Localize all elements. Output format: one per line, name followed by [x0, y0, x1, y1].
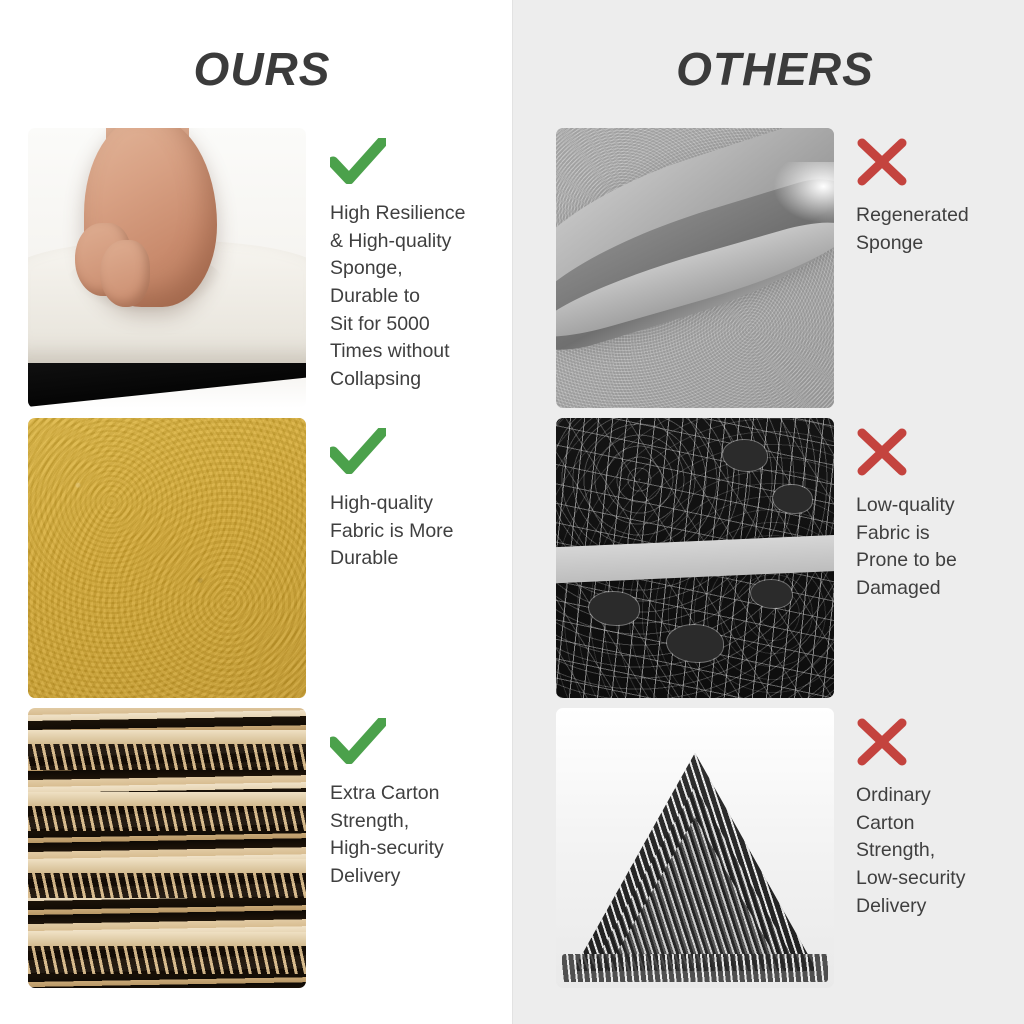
check-mark-icon	[330, 428, 502, 484]
comparison-infographic: OURS High	[0, 0, 1024, 1024]
ours-panel: OURS High	[0, 0, 512, 1024]
fist-pressing-white-foam-mattress-image	[28, 128, 306, 408]
fabric-flake	[773, 485, 812, 513]
check-mark-icon	[330, 718, 502, 774]
cardboard-liner	[28, 932, 306, 946]
cardboard-liner	[28, 859, 306, 873]
ours-row-fabric-info: High-quality Fabric is More Durable	[306, 418, 502, 573]
cross-mark-icon	[856, 428, 1024, 484]
ours-row-sponge-caption: High Resilience & High-quality Sponge, D…	[330, 200, 502, 394]
ours-rows: High Resilience & High-quality Sponge, D…	[0, 128, 512, 998]
others-row-fabric-info: Low-quality Fabric is Prone to be Damage…	[834, 418, 1024, 603]
others-row-carton: Ordinary Carton Strength, Low-security D…	[512, 708, 1024, 998]
cardboard-flute	[28, 744, 306, 769]
others-row-carton-caption: Ordinary Carton Strength, Low-security D…	[856, 782, 1024, 920]
cross-mark-icon	[856, 138, 1024, 194]
cardboard-flute	[28, 806, 306, 831]
fabric-flake	[589, 592, 639, 626]
kraft-corrugated-cardboard-layers-image	[28, 708, 306, 988]
others-row-sponge: Regenerated Sponge	[512, 128, 1024, 418]
gray-folded-thin-carton-image	[556, 708, 834, 988]
others-title: OTHERS	[512, 42, 1024, 96]
gray-folded-regenerated-sponge-sheet-image	[556, 128, 834, 408]
others-rows: Regenerated Sponge	[512, 128, 1024, 998]
yellow-leather-fabric-swatch-image	[28, 418, 306, 698]
cardboard-flute	[28, 873, 306, 898]
fabric-flake	[751, 580, 793, 608]
cardboard-flute	[28, 946, 306, 974]
others-row-sponge-caption: Regenerated Sponge	[856, 202, 1024, 257]
ours-row-fabric-caption: High-quality Fabric is More Durable	[330, 490, 502, 573]
ours-row-sponge-info: High Resilience & High-quality Sponge, D…	[306, 128, 502, 394]
ours-row-fabric: High-quality Fabric is More Durable	[0, 418, 512, 708]
knuckle-shape	[100, 240, 150, 307]
fabric-flake	[667, 625, 723, 661]
ours-row-sponge: High Resilience & High-quality Sponge, D…	[0, 128, 512, 418]
cardboard-liner	[28, 730, 306, 744]
cracked-peeling-dark-fabric-image	[556, 418, 834, 698]
check-mark-icon	[330, 138, 502, 194]
others-row-carton-info: Ordinary Carton Strength, Low-security D…	[834, 708, 1024, 920]
cross-mark-icon	[856, 718, 1024, 774]
ours-row-carton: Extra Carton Strength, High-security Del…	[0, 708, 512, 998]
panel-divider	[512, 0, 513, 1024]
fabric-flake	[723, 440, 767, 471]
others-row-sponge-info: Regenerated Sponge	[834, 128, 1024, 257]
highlight-glow	[773, 162, 834, 224]
others-row-fabric-caption: Low-quality Fabric is Prone to be Damage…	[856, 492, 1024, 603]
fabric-tear-band	[556, 535, 834, 585]
ours-row-carton-caption: Extra Carton Strength, High-security Del…	[330, 780, 502, 891]
others-row-fabric: Low-quality Fabric is Prone to be Damage…	[512, 418, 1024, 708]
cardboard-liner	[28, 792, 306, 806]
carton-base-edge	[562, 954, 829, 982]
ours-row-carton-info: Extra Carton Strength, High-security Del…	[306, 708, 502, 891]
others-panel: OTHERS Regenerated Sponge	[512, 0, 1024, 1024]
ours-title: OURS	[0, 42, 512, 96]
